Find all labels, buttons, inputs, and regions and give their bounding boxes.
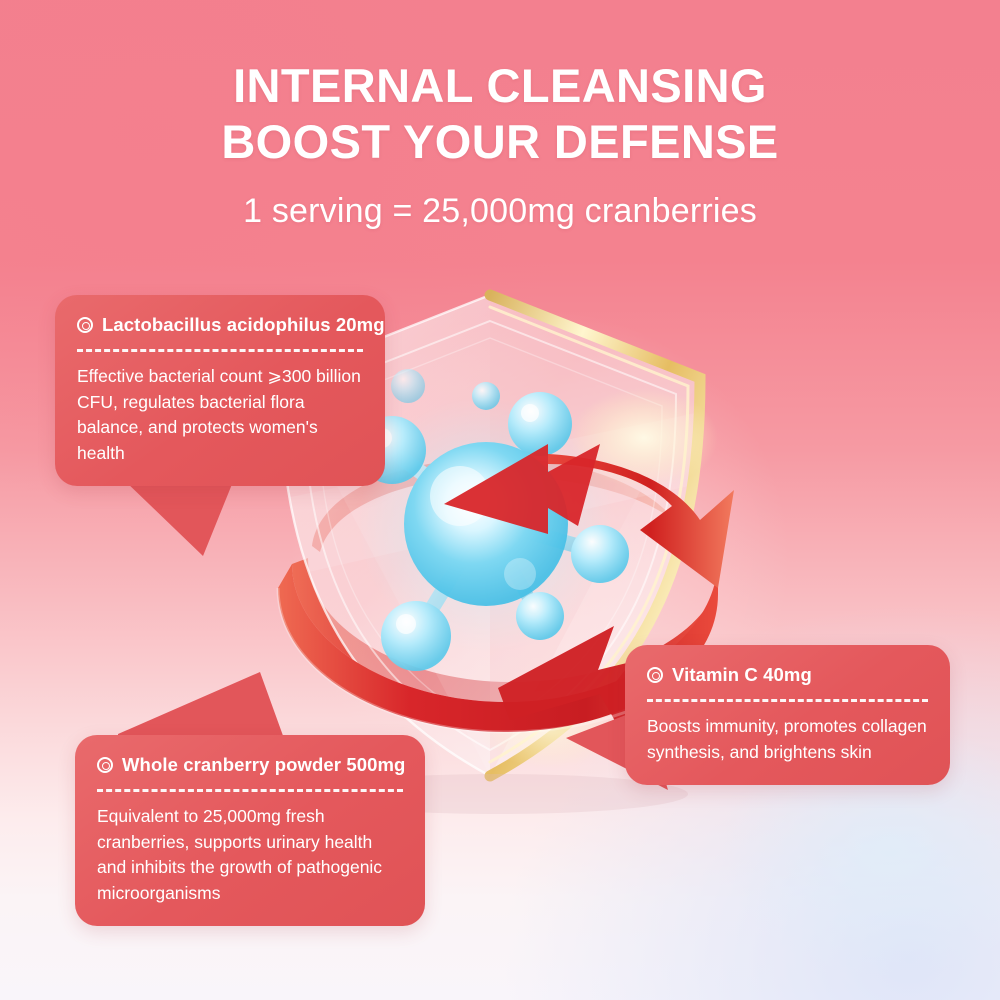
callout-title-text: Lactobacillus acidophilus 20mg bbox=[102, 313, 385, 337]
headline-block: INTERNAL CLEANSING BOOST YOUR DEFENSE 1 … bbox=[0, 58, 1000, 232]
ring-icon bbox=[647, 667, 663, 683]
callout-body-probiotic: Effective bacterial count ⩾300 billion C… bbox=[77, 364, 363, 466]
callout-card-cranberry[interactable]: Whole cranberry powder 500mg Equivalent … bbox=[75, 735, 425, 926]
headline-line-2: BOOST YOUR DEFENSE bbox=[0, 114, 1000, 170]
poster-canvas: INTERNAL CLEANSING BOOST YOUR DEFENSE 1 … bbox=[0, 0, 1000, 1000]
callout-title-text: Vitamin C 40mg bbox=[672, 663, 812, 687]
callout-divider bbox=[97, 789, 403, 792]
headline-line-1: INTERNAL CLEANSING bbox=[0, 58, 1000, 114]
headline-subtitle: 1 serving = 25,000mg cranberries bbox=[0, 190, 1000, 232]
callout-title-vitaminc: Vitamin C 40mg bbox=[647, 663, 928, 687]
callout-title-cranberry: Whole cranberry powder 500mg bbox=[97, 753, 403, 777]
callout-card-vitaminc[interactable]: Vitamin C 40mg Boosts immunity, promotes… bbox=[625, 645, 950, 785]
ring-icon bbox=[77, 317, 93, 333]
callout-title-probiotic: Lactobacillus acidophilus 20mg bbox=[77, 313, 363, 337]
ring-icon bbox=[97, 757, 113, 773]
callout-divider bbox=[647, 699, 928, 702]
callout-divider bbox=[77, 349, 363, 352]
callout-card-probiotic[interactable]: Lactobacillus acidophilus 20mg Effective… bbox=[55, 295, 385, 486]
callout-body-cranberry: Equivalent to 25,000mg fresh cranberries… bbox=[97, 804, 403, 906]
callout-body-vitaminc: Boosts immunity, promotes collagen synth… bbox=[647, 714, 928, 765]
callout-title-text: Whole cranberry powder 500mg bbox=[122, 753, 405, 777]
